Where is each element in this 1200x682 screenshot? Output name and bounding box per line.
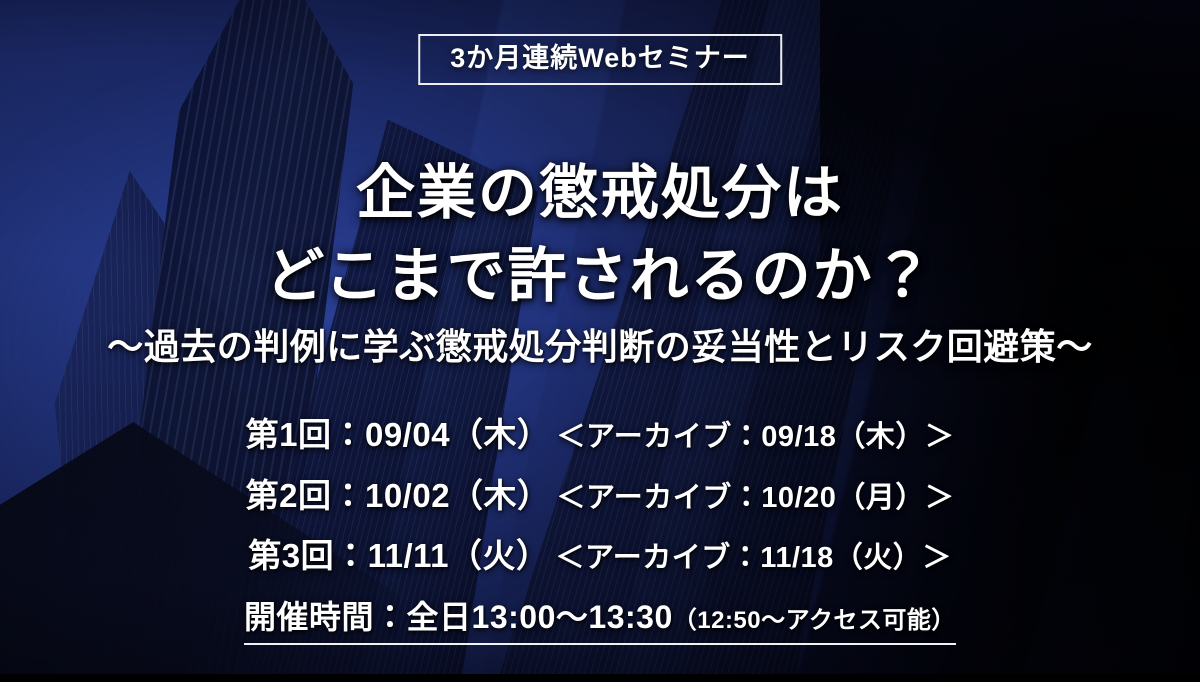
- archive-date-1: ＜アーカイブ：09/18（木）＞: [557, 421, 955, 453]
- series-badge: 3か月連続Webセミナー: [418, 34, 782, 85]
- session-date-3: 第3回：11/11（火）: [248, 537, 549, 574]
- timing-line: 開催時間：全日13:00〜13:30（12:50〜アクセス可能）: [0, 592, 1200, 645]
- session-date-2: 第2回：10/02（木）: [246, 477, 551, 514]
- banner-content: 3か月連続Webセミナー 企業の懲戒処分は どこまで許されるのか？ 〜過去の判例…: [0, 0, 1200, 682]
- schedule-row-1: 第1回：09/04（木）＜アーカイブ：09/18（木）＞: [0, 405, 1200, 466]
- schedule-row-3: 第3回：11/11（火）＜アーカイブ：11/18（火）＞: [0, 526, 1200, 587]
- schedule-row-2: 第2回：10/02（木）＜アーカイブ：10/20（月）＞: [0, 466, 1200, 527]
- timing-note: （12:50〜アクセス可能）: [673, 607, 956, 634]
- title-line-2: どこまで許されるのか？: [0, 235, 1200, 319]
- archive-date-2: ＜アーカイブ：10/20（月）＞: [557, 482, 955, 514]
- page-title: 企業の懲戒処分は どこまで許されるのか？: [0, 152, 1200, 320]
- page-subtitle: 〜過去の判例に学ぶ懲戒処分判断の妥当性とリスク回避策〜: [0, 318, 1200, 370]
- title-line-1: 企業の懲戒処分は: [0, 152, 1200, 236]
- session-date-1: 第1回：09/04（木）: [246, 416, 551, 453]
- schedule-list: 第1回：09/04（木）＜アーカイブ：09/18（木）＞ 第2回：10/02（木…: [0, 405, 1200, 587]
- archive-date-3: ＜アーカイブ：11/18（火）＞: [556, 542, 952, 574]
- webinar-banner: 3か月連続Webセミナー 企業の懲戒処分は どこまで許されるのか？ 〜過去の判例…: [0, 0, 1200, 682]
- timing-underlined: 開催時間：全日13:00〜13:30（12:50〜アクセス可能）: [244, 592, 956, 645]
- timing-main: 開催時間：全日13:00〜13:30: [244, 599, 673, 635]
